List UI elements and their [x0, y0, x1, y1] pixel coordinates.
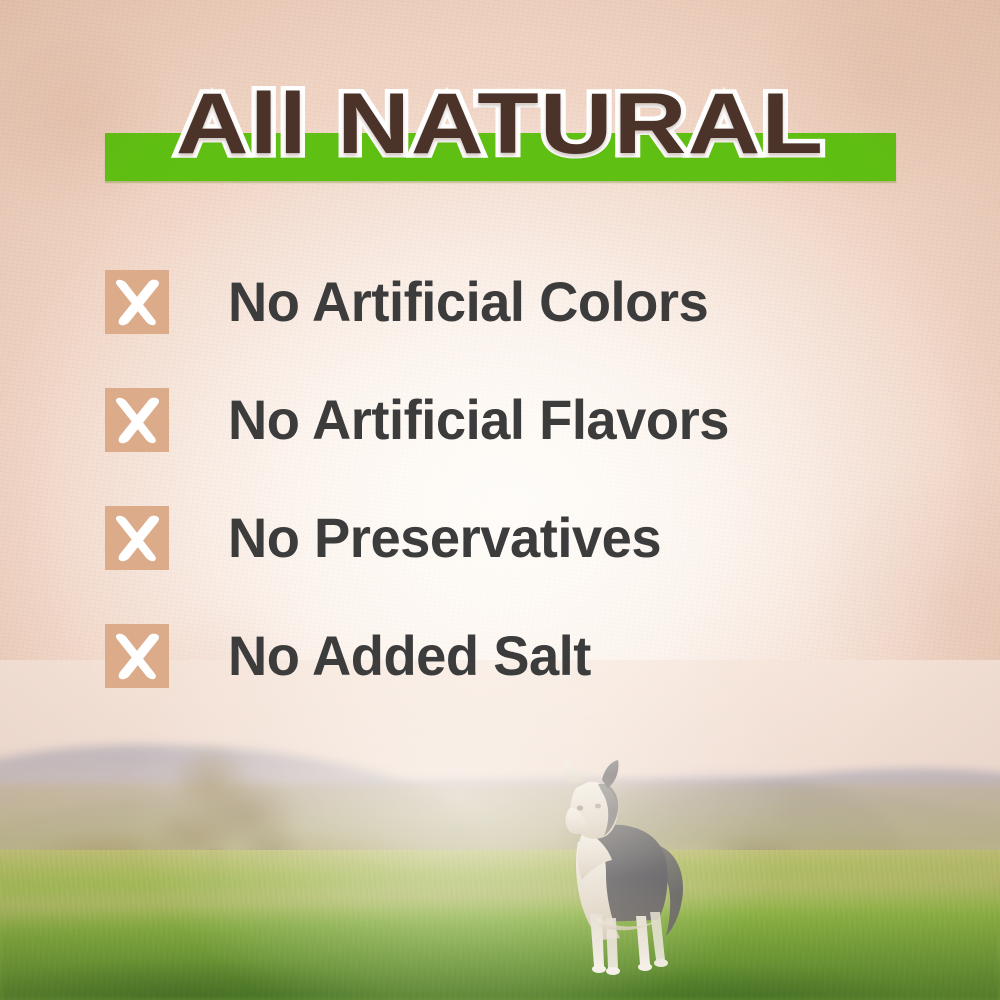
benefits-checklist: No Artificial Colors No Artificial Flavo…	[0, 262, 1000, 734]
list-item: No Artificial Flavors	[0, 380, 1000, 498]
poster: All NATURAL No Artificial Colors	[0, 0, 1000, 1000]
list-item: No Artificial Colors	[0, 262, 1000, 380]
list-item-label: No Artificial Colors	[228, 262, 708, 342]
x-mark-icon	[105, 624, 169, 688]
list-item-label: No Preservatives	[228, 498, 661, 578]
list-item-label: No Artificial Flavors	[228, 380, 729, 460]
list-item: No Added Salt	[0, 616, 1000, 734]
headline-block: All NATURAL	[0, 72, 1000, 190]
x-mark-icon	[105, 506, 169, 570]
page-title: All NATURAL	[0, 72, 1000, 176]
x-mark-icon	[105, 270, 169, 334]
x-mark-icon	[105, 388, 169, 452]
poster-content: All NATURAL No Artificial Colors	[0, 0, 1000, 1000]
list-item-label: No Added Salt	[228, 616, 591, 696]
list-item: No Preservatives	[0, 498, 1000, 616]
